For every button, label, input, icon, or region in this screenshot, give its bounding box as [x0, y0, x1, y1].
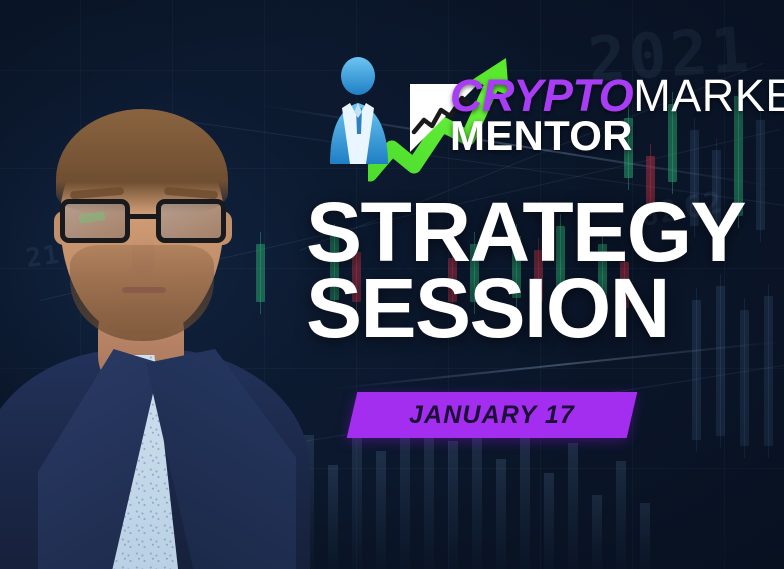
headline-line-1: STRATEGY [306, 196, 776, 270]
brand-logo: CRYPTOMARKET MENTOR [312, 52, 774, 172]
lens-reflection [79, 211, 106, 224]
eyeglass-bridge [128, 214, 158, 219]
hair [56, 109, 228, 213]
mouth [122, 287, 166, 293]
nose [132, 239, 154, 275]
presenter-portrait [0, 49, 306, 569]
businessman-icon [318, 56, 398, 168]
date-banner-label: JANUARY 17 [352, 392, 632, 438]
headline-line-2: SESSION [306, 272, 776, 346]
brand-wordmark: CRYPTOMARKET MENTOR [450, 74, 784, 160]
promo-banner: 2021 62 62 21 [0, 0, 784, 569]
eyeglass-lens-right [156, 199, 226, 243]
eyeglasses-icon [60, 199, 226, 243]
date-banner: JANUARY 17 [352, 392, 632, 438]
brand-mentor-text: MENTOR [450, 112, 633, 159]
eyeglass-lens-left [60, 199, 130, 243]
brand-market-text: MARKET [633, 70, 784, 121]
headline-block: STRATEGY SESSION [306, 196, 776, 346]
